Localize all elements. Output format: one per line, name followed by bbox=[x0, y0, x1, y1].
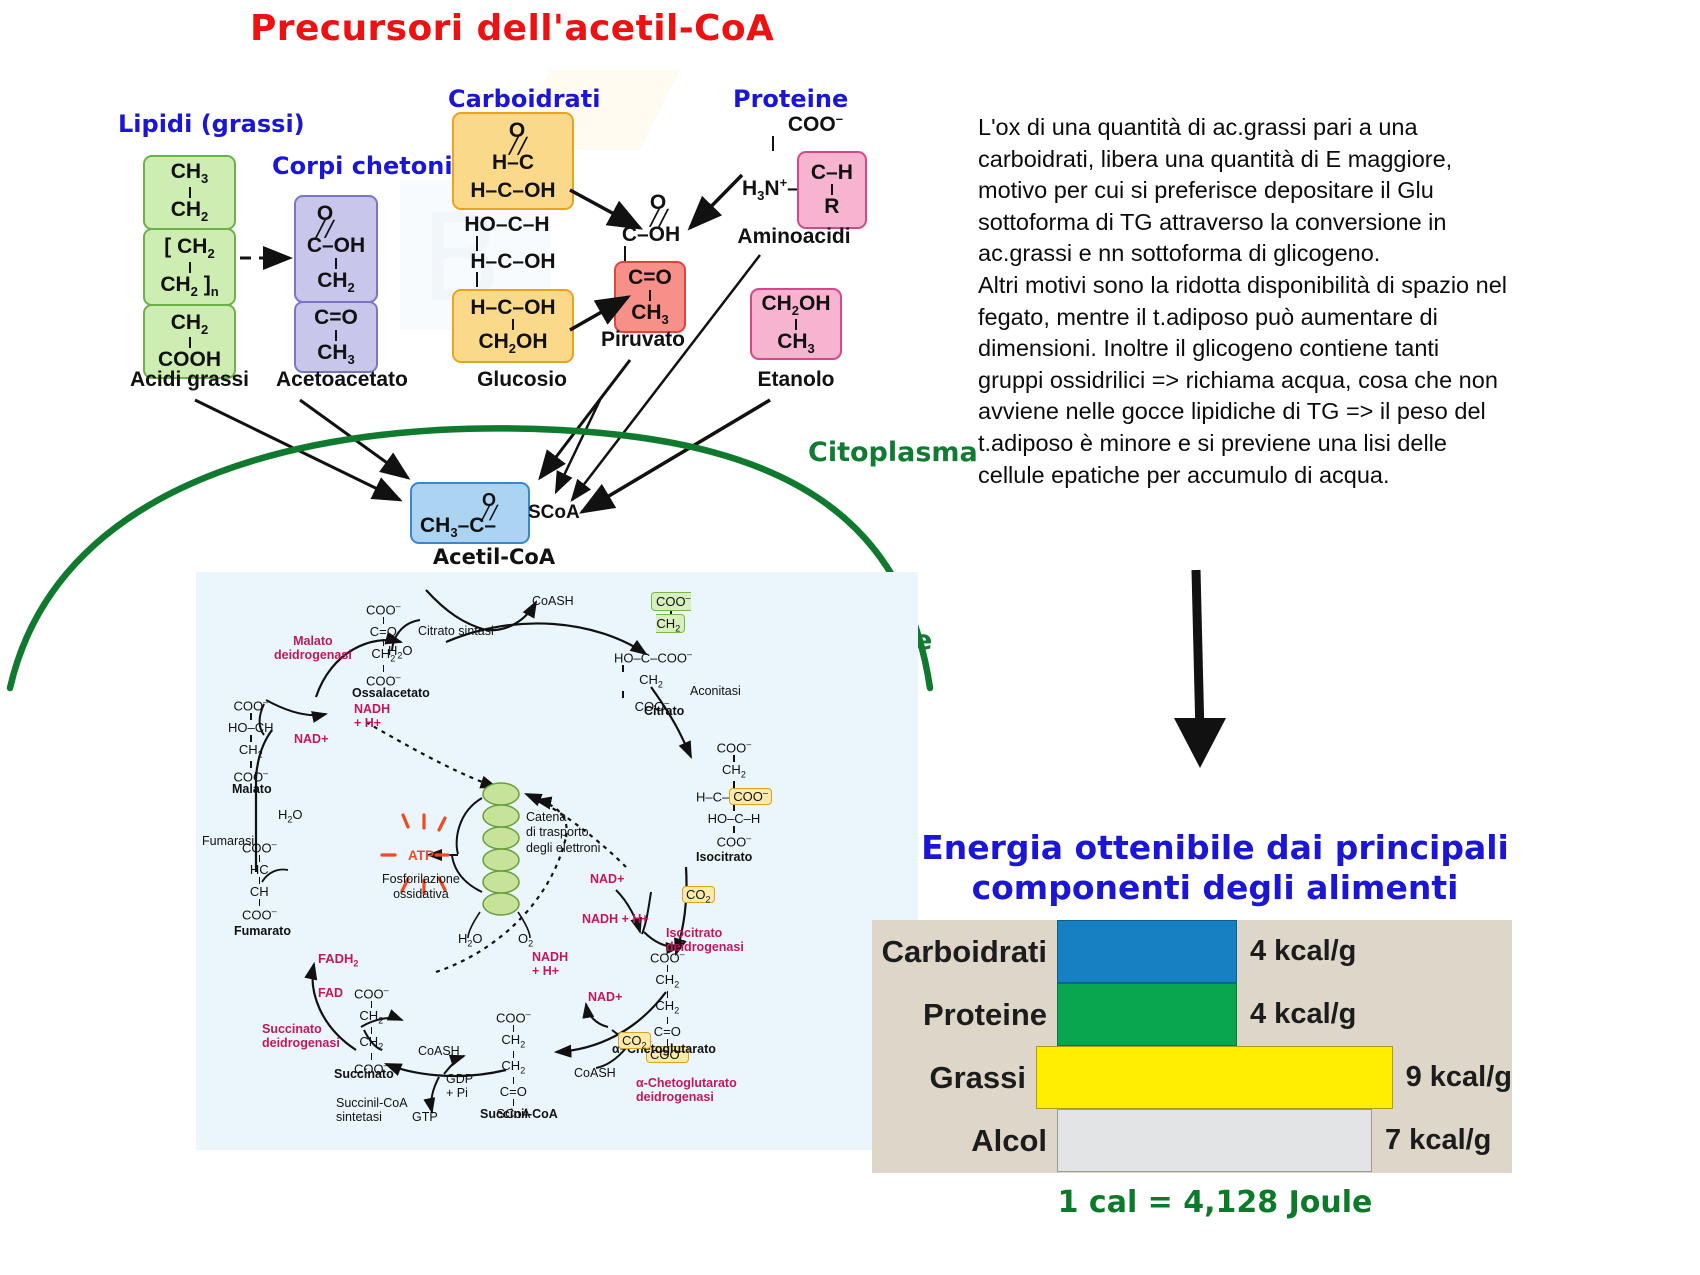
krebs-cofactor-o2-etc: O2 bbox=[518, 932, 533, 949]
chart-row-grassi: Grassi 9 kcal/g bbox=[872, 1046, 1512, 1109]
krebs-cofactor-nad-akg: NAD+ bbox=[588, 990, 622, 1004]
krebs-cofactor-nad-isocitrato: NAD+ bbox=[590, 872, 624, 886]
krebs-structure-malato: COO–HO–CHCH2COO– bbox=[228, 698, 274, 783]
chart-label-grassi: Grassi bbox=[872, 1060, 1036, 1096]
krebs-cofactor-h2o-citrato: H2O bbox=[388, 644, 413, 661]
krebs-enzyme-succinato-deidrogenasi: Succinato deidrogenasi bbox=[262, 1022, 340, 1050]
chart-value-grassi: 9 kcal/g bbox=[1393, 1061, 1512, 1094]
chart-bar-proteine bbox=[1057, 983, 1237, 1046]
note-paragraph: L'ox di una quantità di ac.grassi pari a… bbox=[978, 112, 1508, 491]
chart-row-alcol: Alcol 7 kcal/g bbox=[872, 1109, 1512, 1172]
krebs-structure-isocitrato: COO–CH2 H–C–COO– HO–C–HCOO– bbox=[696, 740, 772, 849]
krebs-enzyme-fumarasi: Fumarasi bbox=[202, 834, 254, 848]
krebs-cofactor-h2o-etc: H2O bbox=[458, 932, 483, 949]
chart-value-alcol: 7 kcal/g bbox=[1372, 1124, 1491, 1157]
krebs-cofactor-nad-malato: NAD+ bbox=[294, 732, 328, 746]
label-citoplasma: Citoplasma bbox=[808, 438, 978, 468]
krebs-enzyme-citrato-sintasi: Citrato sintasi bbox=[418, 624, 494, 638]
krebs-cofactor-coash-citrato: CoASH bbox=[532, 594, 574, 608]
krebs-structure-fumarato: COO–HCCHCOO– bbox=[242, 840, 277, 922]
krebs-enzyme-malato-deidrogenasi: Malato deidrogenasi bbox=[274, 634, 352, 662]
krebs-cofactor-nadh-isocitrato: NADH + H+ bbox=[582, 912, 649, 926]
krebs-structure-succinato: COO–CH2CH2COO– bbox=[354, 986, 389, 1075]
krebs-cofactor-coash-succinil: CoASH bbox=[418, 1044, 460, 1058]
chart-value-carboidrati: 4 kcal/g bbox=[1237, 935, 1356, 968]
krebs-cofactor-co2-isocitrato: CO2 bbox=[682, 888, 715, 905]
krebs-structure-citrato: COO–CH2 bbox=[651, 594, 691, 634]
chart-bar-alcol bbox=[1057, 1109, 1372, 1172]
chart-row-carboidrati: Carboidrati 4 kcal/g bbox=[872, 920, 1512, 983]
chart-label-alcol: Alcol bbox=[872, 1123, 1057, 1159]
krebs-cofactor-nadh-akg: NADH + H+ bbox=[532, 950, 568, 978]
krebs-cofactor-co2-akg: CO2 bbox=[618, 1034, 651, 1051]
krebs-cofactor-gtp: GTP bbox=[412, 1110, 438, 1124]
electron-transport-chain-beads bbox=[483, 783, 519, 915]
krebs-structure-succinil-coa: COO–CH2CH2C=OSCoA bbox=[496, 1010, 531, 1120]
chart-row-proteine: Proteine 4 kcal/g bbox=[872, 983, 1512, 1046]
krebs-label-fosforilazione-ossidativa: Fosforilazione ossidativa bbox=[382, 872, 460, 902]
chart-label-proteine: Proteine bbox=[872, 997, 1057, 1033]
chart-value-proteine: 4 kcal/g bbox=[1237, 998, 1356, 1031]
chart-bar-carboidrati bbox=[1057, 920, 1237, 983]
krebs-label-catena-trasporto: Catena di trasporto degli elettroni bbox=[526, 810, 600, 856]
energy-bar-chart: Carboidrati 4 kcal/g Proteine 4 kcal/g G… bbox=[872, 920, 1512, 1173]
krebs-label-succinato: Succinato bbox=[334, 1067, 394, 1081]
krebs-cofactor-gdp-pi: GDP + Pi bbox=[446, 1072, 473, 1100]
krebs-cycle-diagram: COO–C=OCH2COO– Ossalacetato Citrato sint… bbox=[196, 572, 918, 1150]
krebs-cofactor-fadh2: FADH2 bbox=[318, 952, 358, 969]
chart-bar-grassi bbox=[1036, 1046, 1393, 1109]
krebs-cofactor-coash-akg: CoASH bbox=[574, 1066, 616, 1080]
chart-label-carboidrati: Carboidrati bbox=[872, 934, 1057, 970]
krebs-label-ossalacetato: Ossalacetato bbox=[352, 686, 430, 700]
krebs-label-atp: ATP bbox=[408, 848, 434, 863]
krebs-cofactor-h2o-fumarasi: H2O bbox=[278, 808, 303, 825]
krebs-enzyme-aconitasi: Aconitasi bbox=[690, 684, 741, 698]
krebs-label-isocitrato: Isocitrato bbox=[696, 850, 752, 864]
krebs-label-fumarato: Fumarato bbox=[234, 924, 291, 938]
krebs-label-succinil-coa: Succinil-CoA bbox=[480, 1107, 558, 1121]
krebs-label-malato: Malato bbox=[232, 782, 272, 796]
krebs-cofactor-fad: FAD bbox=[318, 986, 343, 1000]
chart-title: Energia ottenibile dai principali compon… bbox=[905, 828, 1525, 907]
krebs-label-citrato: Citrato bbox=[644, 704, 684, 718]
chart-caption: 1 cal = 4,128 Joule bbox=[905, 1185, 1525, 1220]
krebs-enzyme-succinil-coa-sintetasi: Succinil-CoA sintetasi bbox=[336, 1096, 408, 1124]
krebs-enzyme-chetoglutarato-deidrogenasi: α-Chetoglutarato deidrogenasi bbox=[636, 1076, 737, 1104]
krebs-cofactor-nadh-malato: NADH + H+ bbox=[354, 702, 390, 730]
